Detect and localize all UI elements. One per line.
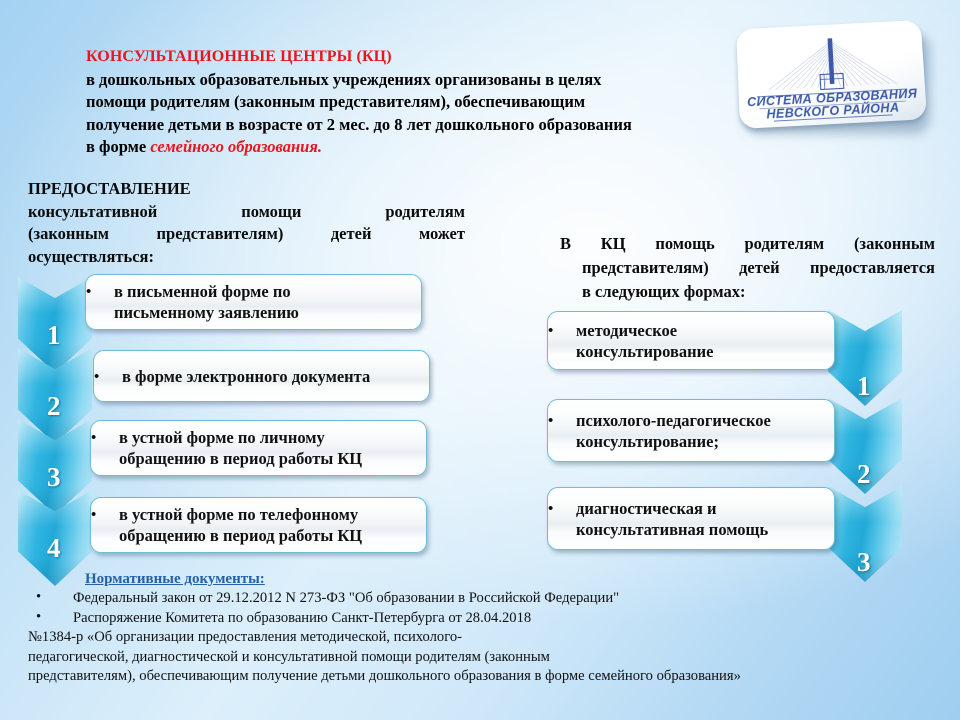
chevron-left-2-number: 2 xyxy=(47,393,61,420)
list-item-left-3[interactable]: • в устной форме по личному обращению в … xyxy=(90,420,427,476)
list-item-right-2-line-1: психолого-педагогическое xyxy=(562,410,826,431)
list-item-right-2[interactable]: • психолого-педагогическое консультирова… xyxy=(547,399,835,462)
chevron-left-1-number: 1 xyxy=(47,322,61,349)
right-intro-line-2: представителям) детей предоставляется xyxy=(560,256,935,280)
left-intro-line-1: консультативной помощи родителям xyxy=(28,201,465,224)
list-item-right-3-line-1: диагностическая и xyxy=(562,498,826,519)
list-item-left-2[interactable]: • в форме электронного документа xyxy=(93,350,430,402)
logo-plate: СИСТЕМА ОБРАЗОВАНИЯ НЕВСКОГО РАЙОНА xyxy=(736,20,927,129)
chevron-left-3-number: 3 xyxy=(47,464,61,491)
list-item-left-4-line-1: в устной форме по телефонному xyxy=(105,504,418,525)
left-intro-title: ПРЕДОСТАВЛЕНИЕ xyxy=(28,178,465,201)
heading-line-2: помощи родителям (законным представителя… xyxy=(86,91,721,114)
heading-accent: семейного образования. xyxy=(150,137,322,156)
list-item-left-2-content: • в форме электронного документа xyxy=(94,366,429,387)
bullet-icon: • xyxy=(36,588,41,607)
footer-bullet-1: • Федеральный закон от 29.12.2012 N 273-… xyxy=(28,589,948,608)
list-item-left-1-content: • в письменной форме по письменному заяв… xyxy=(86,281,421,323)
chevron-right-3-number: 3 xyxy=(857,549,871,576)
list-item-right-1-content: • методическое консультирование xyxy=(548,320,834,362)
normative-docs-heading-row: Нормативные документы: xyxy=(28,570,948,589)
page-title: КОНСУЛЬТАЦИОННЫЕ ЦЕНТРЫ (КЦ) xyxy=(86,46,721,69)
footer-bullet-2: • Распоряжение Комитета по образованию С… xyxy=(28,609,948,628)
left-intro-line-3: осуществляться: xyxy=(28,246,465,269)
list-item-right-2-content: • психолого-педагогическое консультирова… xyxy=(548,410,834,452)
bullet-icon: • xyxy=(94,367,99,388)
list-item-left-3-line-1: в устной форме по личному xyxy=(105,427,418,448)
right-intro-line-3: в следующих формах: xyxy=(560,280,935,304)
list-item-left-3-content: • в устной форме по личному обращению в … xyxy=(91,427,426,469)
bullet-icon: • xyxy=(36,608,41,627)
right-intro-line-1: В КЦ помощь родителям (законным xyxy=(560,232,935,256)
bullet-icon: • xyxy=(548,411,553,432)
chevron-right-1-number: 1 xyxy=(857,373,871,400)
bullet-icon: • xyxy=(86,282,91,303)
list-item-left-1-line-2: письменному заявлению xyxy=(100,302,413,323)
footer-bullet-2-text: Распоряжение Комитета по образованию Сан… xyxy=(73,610,531,626)
heading-line-3: получение детьми в возрасте от 2 мес. до… xyxy=(86,114,721,137)
list-item-left-4-content: • в устной форме по телефонному обращени… xyxy=(91,504,426,546)
heading-line-4-prefix: в форме xyxy=(86,137,150,156)
footer-block: Нормативные документы: • Федеральный зак… xyxy=(28,570,948,686)
bridge-icon: СИСТЕМА ОБРАЗОВАНИЯ НЕВСКОГО РАЙОНА xyxy=(736,20,927,129)
list-item-left-2-line-1: в форме электронного документа xyxy=(108,366,421,387)
list-item-right-1-line-1: методическое xyxy=(562,320,826,341)
list-item-left-3-line-2: обращению в период работы КЦ xyxy=(105,448,418,469)
list-item-right-3-content: • диагностическая и консультативная помо… xyxy=(548,498,834,540)
heading-line-1: в дошкольных образовательных учреждениях… xyxy=(86,69,721,92)
heading-block: КОНСУЛЬТАЦИОННЫЕ ЦЕНТРЫ (КЦ) в дошкольны… xyxy=(86,46,721,159)
right-intro-block: В КЦ помощь родителям (законным представ… xyxy=(560,232,935,304)
list-item-left-1[interactable]: • в письменной форме по письменному заяв… xyxy=(85,274,422,330)
left-intro-block: ПРЕДОСТАВЛЕНИЕ консультативной помощи ро… xyxy=(28,178,465,268)
heading-line-4: в форме семейного образования. xyxy=(86,136,721,159)
bullet-icon: • xyxy=(91,505,96,526)
footer-para-line-2: педагогической, диагностической и консул… xyxy=(28,648,948,667)
list-item-right-3[interactable]: • диагностическая и консультативная помо… xyxy=(547,487,835,550)
normative-docs-heading: Нормативные документы: xyxy=(85,570,265,589)
footer-para-line-3: представителям), обеспечивающим получени… xyxy=(28,667,948,686)
bullet-icon: • xyxy=(548,321,553,342)
left-intro-line-2: (законным представителям) детей может xyxy=(28,223,465,246)
slide-canvas: СИСТЕМА ОБРАЗОВАНИЯ НЕВСКОГО РАЙОНА КОНС… xyxy=(0,0,960,720)
bullet-icon: • xyxy=(91,428,96,449)
footer-para-line-1: №1384-р «Об организации предоставления м… xyxy=(28,628,948,647)
list-item-right-1-line-2: консультирование xyxy=(562,341,826,362)
list-item-left-1-line-1: в письменной форме по xyxy=(100,281,413,302)
list-item-right-1[interactable]: • методическое консультирование xyxy=(547,311,835,370)
list-item-left-4[interactable]: • в устной форме по телефонному обращени… xyxy=(90,497,427,553)
logo: СИСТЕМА ОБРАЗОВАНИЯ НЕВСКОГО РАЙОНА xyxy=(738,24,934,142)
chevron-left-4-number: 4 xyxy=(47,535,61,562)
footer-bullet-1-text: Федеральный закон от 29.12.2012 N 273-ФЗ… xyxy=(73,590,619,606)
bullet-icon: • xyxy=(548,499,553,520)
list-item-right-3-line-2: консультативная помощь xyxy=(562,519,826,540)
chevron-right-2-number: 2 xyxy=(857,461,871,488)
list-item-left-4-line-2: обращению в период работы КЦ xyxy=(105,525,418,546)
list-item-right-2-line-2: консультирование; xyxy=(562,431,826,452)
